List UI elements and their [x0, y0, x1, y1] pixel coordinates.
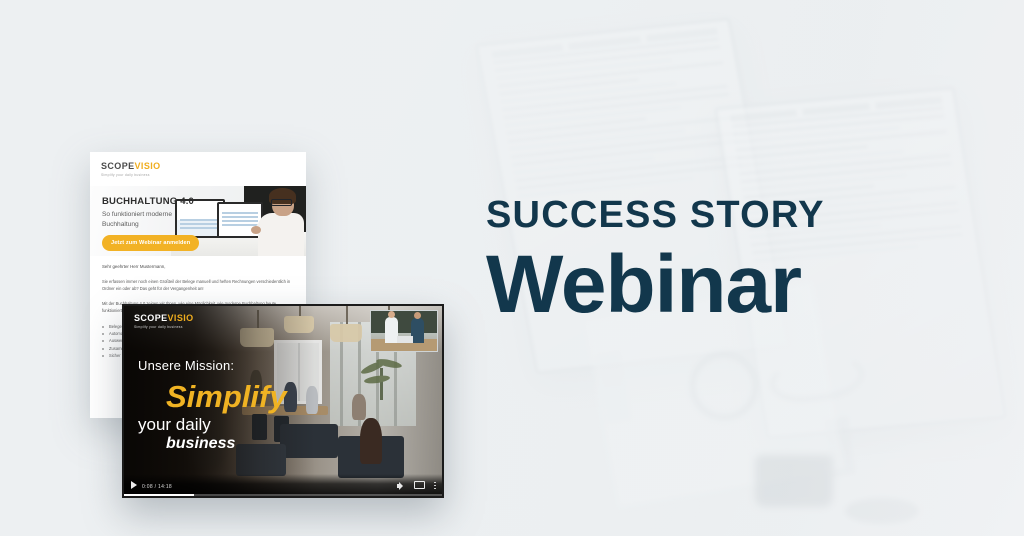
logo-wordmark: SCOPEVISIO: [134, 314, 194, 323]
email-cta-button[interactable]: Jetzt zum Webinar anmelden: [102, 235, 199, 251]
video-progress-bar[interactable]: [124, 494, 442, 497]
headline-block: SUCCESS STORY Webinar: [486, 196, 956, 326]
email-greeting: Sehr geehrter Herr Mustermann,: [102, 264, 294, 269]
volume-icon[interactable]: [397, 482, 405, 490]
banner-canvas: SUCCESS STORY Webinar SCOPEVISIO Simplif…: [0, 0, 1024, 536]
video-text-line-4: business: [166, 435, 338, 453]
logo-part-visio: VISIO: [168, 313, 194, 323]
logo-wordmark: SCOPEVISIO: [101, 162, 161, 171]
logo-tagline: Simplify your daily business: [101, 173, 161, 177]
hero-person: [254, 188, 304, 256]
video-controls-right: [397, 481, 436, 490]
hero-person-body: [258, 213, 304, 256]
email-heading: BUCHHALTUNG 4.0: [102, 196, 194, 207]
video-controls-bar[interactable]: 0:08 / 14:18: [124, 474, 442, 496]
hero-person-glasses: [271, 199, 292, 206]
video-text-simplify: Simplify: [166, 381, 338, 412]
video-text-line-1: Unsere Mission:: [138, 358, 338, 373]
captions-icon[interactable]: [414, 481, 425, 489]
video-timestamp: 0:08 / 14:18: [142, 484, 172, 490]
pip-laptop: [397, 336, 413, 343]
presenter-webcam-overlay[interactable]: [370, 310, 438, 352]
pip-wall: [371, 311, 437, 333]
logo-part-visio: VISIO: [135, 161, 161, 171]
email-subheading: So funktioniert moderne Buchhaltung: [102, 210, 192, 230]
video-player-mockup[interactable]: SCOPEVISIO Simplify your daily business …: [122, 304, 444, 498]
play-icon[interactable]: [131, 481, 137, 489]
video-logo: SCOPEVISIO Simplify your daily business: [134, 314, 194, 329]
logo-part-scope: SCOPE: [101, 161, 135, 171]
video-text-line-3: your daily: [138, 414, 338, 435]
video-slide-text: Unsere Mission: Simplify your daily busi…: [138, 358, 338, 453]
hero-person-hand: [251, 226, 261, 234]
headline-title: Webinar: [486, 244, 956, 326]
headline-kicker: SUCCESS STORY: [486, 196, 956, 234]
more-options-icon[interactable]: [434, 482, 436, 490]
logo-part-scope: SCOPE: [134, 313, 168, 323]
hero-person-arm: [256, 222, 297, 236]
email-logo: SCOPEVISIO Simplify your daily business: [101, 162, 161, 177]
email-paragraph-1: Sie erfassen immer noch einen Großteil d…: [102, 278, 294, 292]
video-progress-fill: [124, 494, 194, 497]
logo-tagline: Simplify your daily business: [134, 325, 194, 329]
